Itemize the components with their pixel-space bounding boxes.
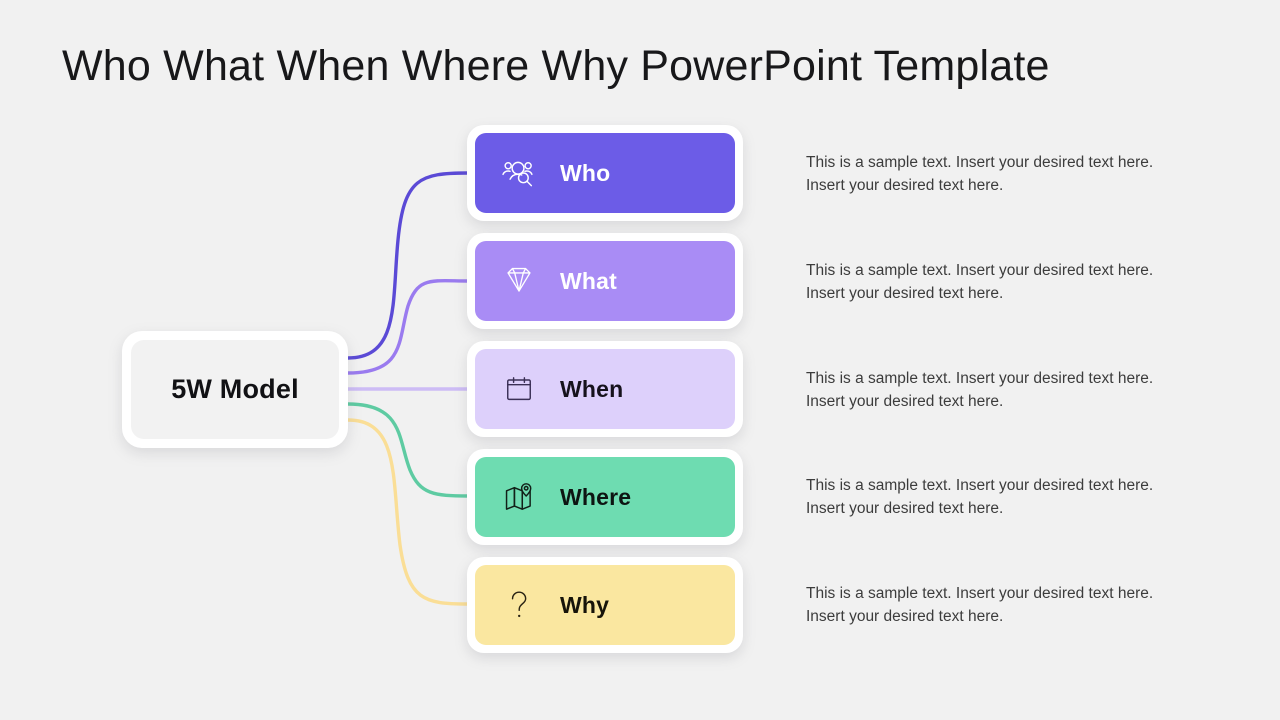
central-node-inner: 5W Model	[131, 340, 339, 439]
card-who-label: Who	[560, 160, 610, 187]
central-node[interactable]: 5W Model	[122, 331, 348, 448]
card-when-label: When	[560, 376, 623, 403]
connector-why	[348, 420, 468, 604]
description-what: This is a sample text. Insert your desir…	[806, 259, 1180, 305]
connector-what	[348, 281, 468, 373]
slide-canvas: Who What When Where Why PowerPoint Templ…	[0, 0, 1280, 720]
card-where-body: Where	[475, 457, 735, 537]
card-when[interactable]: When	[467, 341, 743, 437]
people-search-icon	[500, 154, 538, 192]
central-node-label: 5W Model	[171, 374, 299, 405]
card-when-body: When	[475, 349, 735, 429]
card-where-label: Where	[560, 484, 631, 511]
card-what-label: What	[560, 268, 617, 295]
question-mark-icon	[500, 586, 538, 624]
card-what[interactable]: What	[467, 233, 743, 329]
description-why: This is a sample text. Insert your desir…	[806, 582, 1180, 628]
page-title: Who What When Where Why PowerPoint Templ…	[62, 42, 1050, 91]
card-why[interactable]: Why	[467, 557, 743, 653]
card-who[interactable]: Who	[467, 125, 743, 221]
connector-who	[348, 173, 468, 358]
card-who-body: Who	[475, 133, 735, 213]
card-why-body: Why	[475, 565, 735, 645]
description-where: This is a sample text. Insert your desir…	[806, 474, 1180, 520]
card-what-body: What	[475, 241, 735, 321]
card-why-label: Why	[560, 592, 609, 619]
calendar-icon	[500, 370, 538, 408]
diamond-icon	[500, 262, 538, 300]
card-where[interactable]: Where	[467, 449, 743, 545]
description-who: This is a sample text. Insert your desir…	[806, 151, 1180, 197]
connector-where	[348, 404, 468, 496]
description-when: This is a sample text. Insert your desir…	[806, 367, 1180, 413]
map-pin-icon	[500, 478, 538, 516]
